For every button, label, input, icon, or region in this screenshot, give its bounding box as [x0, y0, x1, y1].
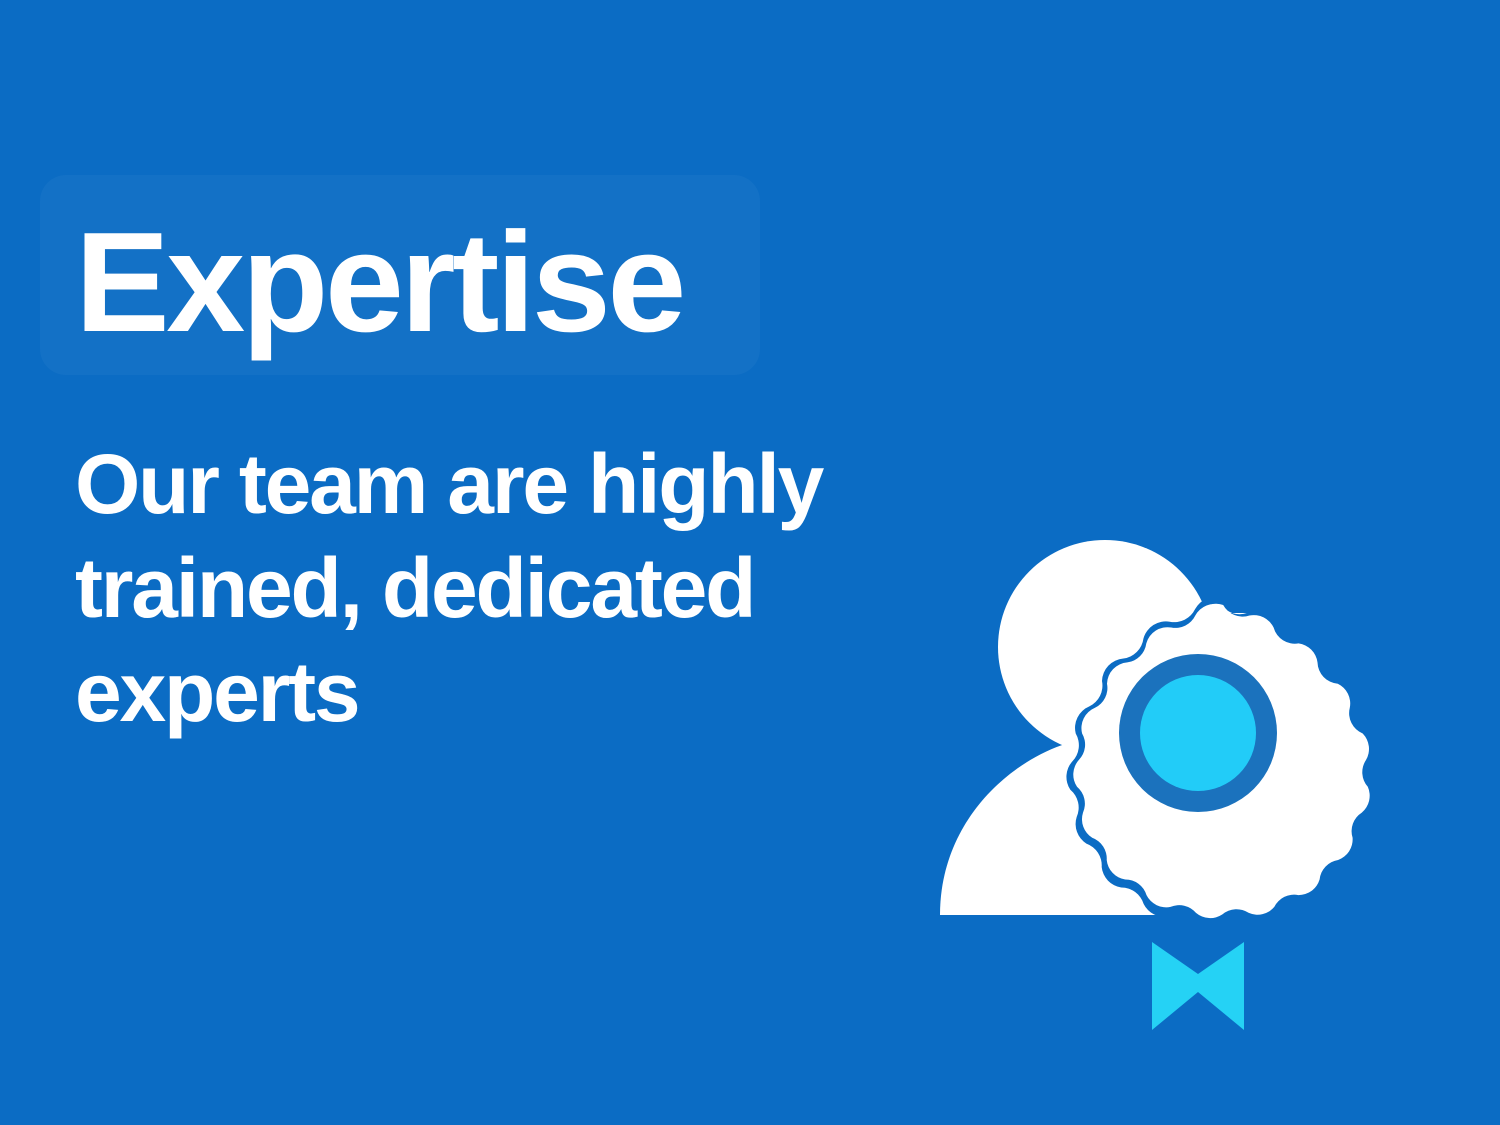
- award-ribbon: [1152, 942, 1244, 1030]
- subtitle-line-1: Our team are highly: [75, 432, 905, 536]
- subtitle-line-3: experts: [75, 640, 905, 744]
- subtitle-line-2: trained, dedicated: [75, 536, 905, 640]
- subtitle: Our team are highly trained, dedicated e…: [75, 432, 905, 744]
- slide-canvas: Expertise Our team are highly trained, d…: [0, 0, 1500, 1125]
- page-title: Expertise: [75, 212, 683, 354]
- person-with-award-badge-icon: [920, 505, 1420, 1035]
